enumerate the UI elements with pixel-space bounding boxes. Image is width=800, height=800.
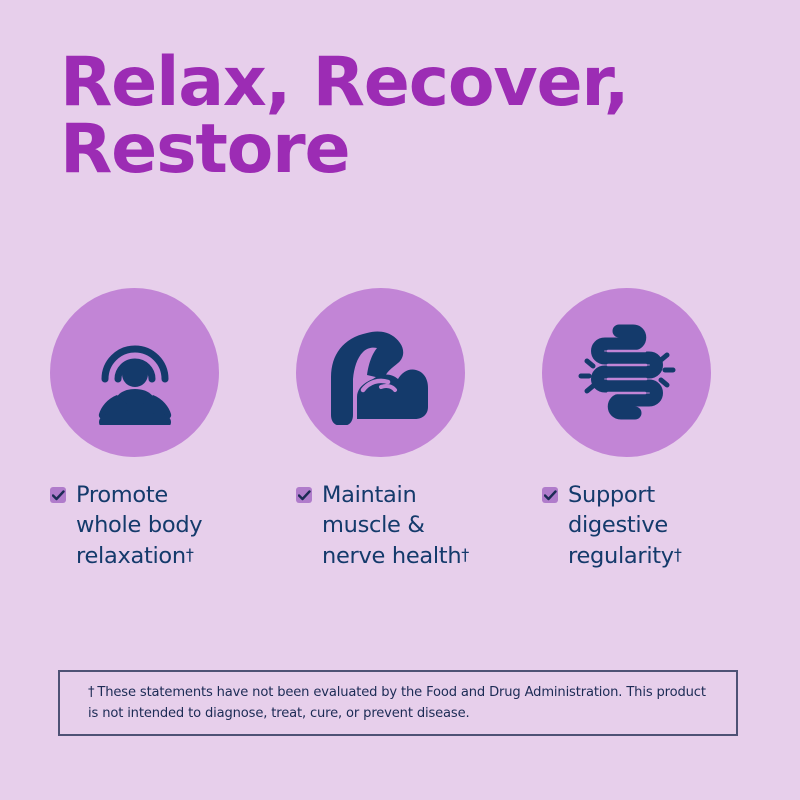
benefit-label: Maintain muscle & nerve health† (322, 480, 469, 571)
checkmark-icon (542, 487, 558, 503)
flexed-bicep-icon (329, 321, 433, 425)
disclaimer-dagger-symbol: † (88, 685, 94, 700)
benefit-icon-circle (542, 288, 711, 457)
benefit-icon-circle (296, 288, 465, 457)
disclaimer-text: †These statements have not been evaluate… (60, 682, 736, 724)
benefit-label-line-1: Promote (76, 482, 168, 508)
disclaimer-line-2: not intended to diagnose, treat, cure, o… (102, 706, 469, 721)
benefits-row: Promote whole body relaxation† (50, 288, 750, 571)
benefit-label: Support digestive regularity† (568, 480, 682, 571)
benefit-label-line-2: muscle & (322, 512, 425, 538)
benefit-label-line-2: digestive (568, 512, 668, 538)
page-title-line-2: Restore (60, 117, 740, 184)
benefit-label-line-1: Maintain (322, 482, 416, 508)
checkmark-icon (296, 487, 312, 503)
dagger-symbol: † (674, 545, 682, 564)
page-title-line-1: Relax, Recover, (60, 50, 740, 117)
benefit-label-line-3: nerve health (322, 543, 461, 569)
benefit-label-row: Promote whole body relaxation† (50, 480, 202, 571)
benefit-label-row: Maintain muscle & nerve health† (296, 480, 469, 571)
benefit-icon-circle (50, 288, 219, 457)
benefit-label-line-3: regularity (568, 543, 674, 569)
intestines-digestion-icon (575, 321, 679, 425)
benefit-label-line-2: whole body (76, 512, 202, 538)
benefit-item-relaxation: Promote whole body relaxation† (50, 288, 258, 571)
checkmark-icon (50, 487, 66, 503)
dagger-symbol: † (186, 545, 194, 564)
meditation-lotus-icon (83, 321, 187, 425)
benefit-item-muscle: Maintain muscle & nerve health† (296, 288, 504, 571)
benefit-item-digestion: Support digestive regularity† (542, 288, 750, 571)
dagger-symbol: † (461, 545, 469, 564)
disclaimer-box: †These statements have not been evaluate… (58, 670, 738, 736)
page-title: Relax, Recover, Restore (60, 50, 740, 183)
benefit-label-line-1: Support (568, 482, 655, 508)
benefit-label: Promote whole body relaxation† (76, 480, 202, 571)
benefit-label-row: Support digestive regularity† (542, 480, 682, 571)
benefit-label-line-3: relaxation (76, 543, 186, 569)
